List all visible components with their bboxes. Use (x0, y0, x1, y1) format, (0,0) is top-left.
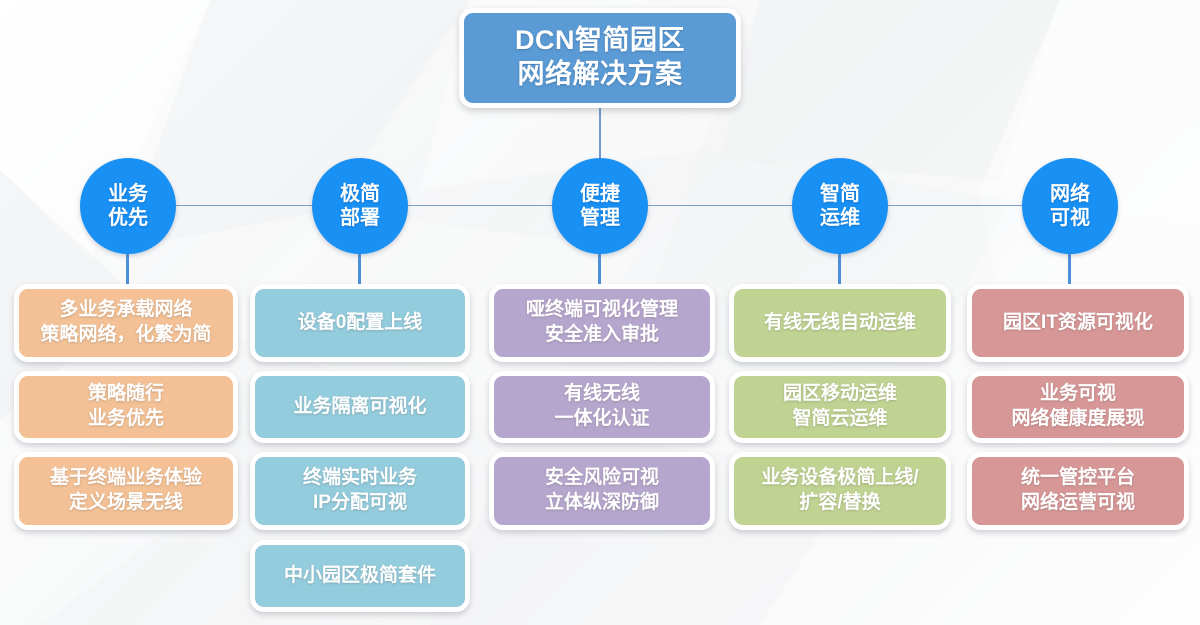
feature-card-line: 立体纵深防御 (545, 491, 659, 516)
feature-card-line: 园区IT资源可视化 (1003, 311, 1153, 336)
branch-circle-label-line-2: 运维 (820, 206, 860, 230)
branch-circle-label-line-1: 智简 (820, 182, 860, 206)
branch-circle-label-line-2: 部署 (340, 206, 380, 230)
feature-card-line: 多业务承载网络 (59, 298, 192, 323)
feature-card-line: 策略网络，化繁为简 (40, 323, 211, 348)
feature-card[interactable]: 终端实时业务 IP分配可视 (250, 452, 470, 530)
feature-card-line: 安全风险可视 (545, 466, 659, 491)
branch-circle-label-line-2: 可视 (1050, 206, 1090, 230)
branch-circle-label-line-1: 业务 (108, 182, 148, 206)
feature-card[interactable]: 哑终端可视化管理 安全准入审批 (489, 284, 715, 362)
feature-card-line: 策略随行 (88, 382, 164, 407)
feature-card-line: 网络运营可视 (1021, 491, 1135, 516)
branch-circle-label-line-2: 优先 (108, 206, 148, 230)
feature-card[interactable]: 设备0配置上线 (250, 284, 470, 362)
feature-card[interactable]: 多业务承载网络 策略网络，化繁为简 (14, 284, 238, 362)
feature-card-line: 业务优先 (88, 407, 164, 432)
feature-card[interactable]: 策略随行 业务优先 (14, 371, 238, 443)
connector-stub-2 (358, 253, 361, 287)
feature-card-line: 基于终端业务体验 (50, 466, 202, 491)
feature-card-line: 终端实时业务 (303, 466, 417, 491)
feature-card[interactable]: 园区IT资源可视化 (967, 284, 1189, 362)
feature-card-line: 哑终端可视化管理 (526, 298, 678, 323)
connector-stub-1 (126, 253, 129, 287)
feature-card[interactable]: 有线无线自动运维 (729, 284, 951, 362)
diagram-canvas: DCN智简园区 网络解决方案 业务 优先 极简 部署 便捷 管理 智简 运维 网… (0, 0, 1200, 625)
feature-card-line: 有线无线自动运维 (764, 311, 916, 336)
title-line-2: 网络解决方案 (518, 58, 683, 92)
feature-card[interactable]: 中小园区极简套件 (250, 540, 470, 612)
feature-card[interactable]: 统一管控平台 网络运营可视 (967, 452, 1189, 530)
feature-card[interactable]: 业务设备极简上线/ 扩容/替换 (729, 452, 951, 530)
feature-card-line: IP分配可视 (313, 491, 407, 516)
branch-circle-label-line-1: 网络 (1050, 182, 1090, 206)
solution-title-box: DCN智简园区 网络解决方案 (459, 8, 741, 108)
branch-circle-smart-ops[interactable]: 智简 运维 (792, 158, 888, 254)
feature-card-line: 业务隔离可视化 (293, 395, 426, 420)
title-line-1: DCN智简园区 (515, 24, 685, 58)
branch-circle-label-line-1: 极简 (340, 182, 380, 206)
branch-circle-label-line-1: 便捷 (580, 182, 620, 206)
branch-circle-simple-deployment[interactable]: 极简 部署 (312, 158, 408, 254)
feature-card-line: 智简云运维 (792, 407, 887, 432)
connector-stub-5 (1068, 253, 1071, 287)
feature-card[interactable]: 业务可视 网络健康度展现 (967, 371, 1189, 443)
feature-card[interactable]: 园区移动运维 智简云运维 (729, 371, 951, 443)
feature-card-line: 业务设备极简上线/ (761, 466, 918, 491)
feature-card-line: 统一管控平台 (1021, 466, 1135, 491)
feature-card-line: 网络健康度展现 (1011, 407, 1144, 432)
branch-circle-business-priority[interactable]: 业务 优先 (80, 158, 176, 254)
feature-card-line: 设备0配置上线 (298, 311, 423, 336)
feature-card-line: 中小园区极简套件 (284, 564, 436, 589)
feature-card-line: 有线无线 (564, 382, 640, 407)
feature-card[interactable]: 安全风险可视 立体纵深防御 (489, 452, 715, 530)
feature-card[interactable]: 有线无线 一体化认证 (489, 371, 715, 443)
feature-card-line: 一体化认证 (554, 407, 649, 432)
branch-circle-network-visibility[interactable]: 网络 可视 (1022, 158, 1118, 254)
feature-card[interactable]: 业务隔离可视化 (250, 371, 470, 443)
feature-card-line: 园区移动运维 (783, 382, 897, 407)
feature-card-line: 扩容/替换 (799, 491, 880, 516)
feature-card-line: 业务可视 (1040, 382, 1116, 407)
feature-card-line: 定义场景无线 (69, 491, 183, 516)
feature-card[interactable]: 基于终端业务体验 定义场景无线 (14, 452, 238, 530)
feature-card-line: 安全准入审批 (545, 323, 659, 348)
connector-stub-4 (838, 253, 841, 287)
branch-circle-convenient-management[interactable]: 便捷 管理 (552, 158, 648, 254)
branch-circle-label-line-2: 管理 (580, 206, 620, 230)
connector-stub-3 (598, 253, 601, 287)
